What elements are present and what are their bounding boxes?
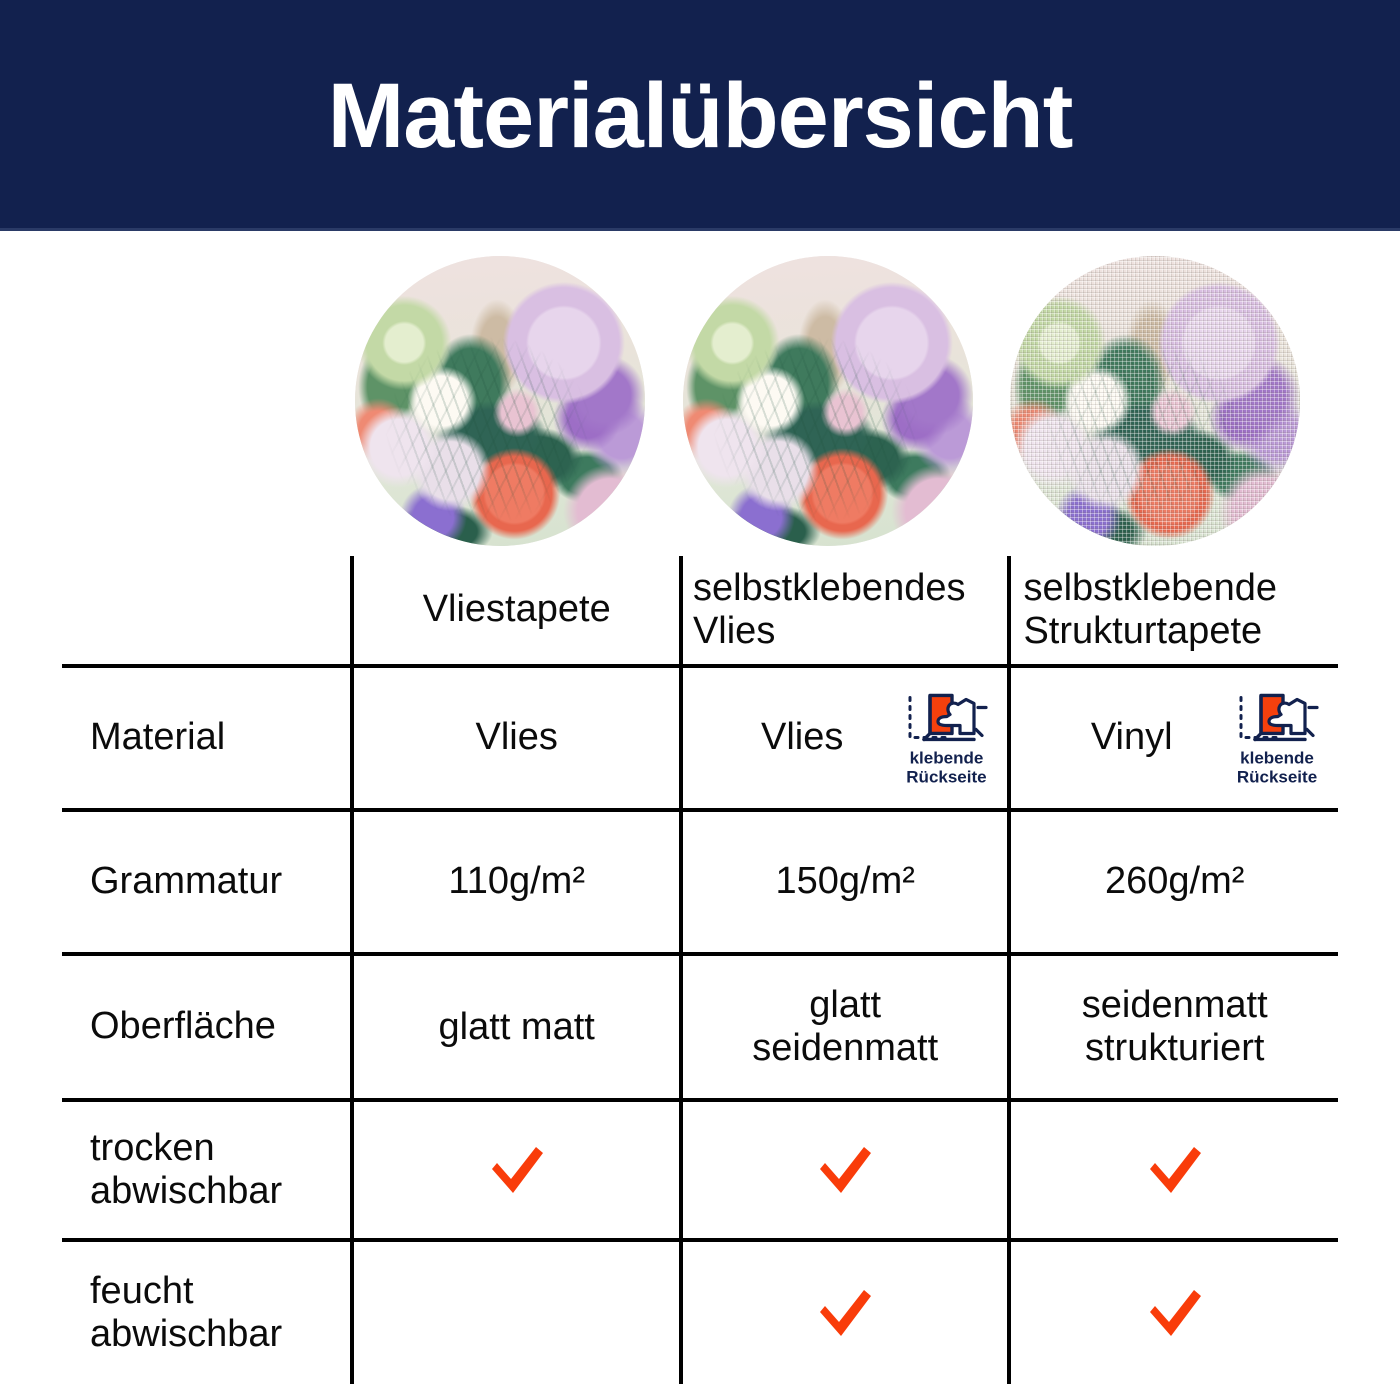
material-comparison-table-wrap: Vliestapete selbstklebendes Vlies selbst… [62,556,1338,1384]
row-label-text: Oberfläche [90,1005,276,1048]
row-label-line2: abwischbar [90,1170,282,1212]
cell-value: Vlies [476,716,558,759]
table-row: Material Vlies Vlies [62,666,1338,810]
peel-adhesive-backing-icon [900,689,992,745]
badge-text: klebende Rückseite [906,748,986,786]
cell-value: 110g/m² [448,860,585,903]
row-label-text: Grammatur [90,860,282,903]
row-label-text: Material [90,716,225,759]
cell-value: 260g/m² [1105,860,1244,903]
floral-pattern-image [355,256,645,546]
cell-value-line2: seidenmatt [752,1027,938,1069]
material-comparison-table: Vliestapete selbstklebendes Vlies selbst… [62,556,1338,1384]
header-line2: Strukturtapete [1023,610,1338,653]
klebende-rueckseite-badge: klebende Rückseite [891,689,1001,786]
cell-value-line1: seidenmatt [1082,984,1268,1026]
page-title: Materialübersicht [328,70,1073,162]
cell-material-selbstklebende-strukturtapete: Vinyl klebende Rü [1009,666,1338,810]
cell-feucht-selbstklebende-strukturtapete [1009,1240,1338,1384]
cell-grammatur-selbstklebende-strukturtapete: 260g/m² [1009,810,1338,954]
banner-underline [0,228,1400,231]
cell-grammatur-selbstklebendes-vlies: 150g/m² [681,810,1010,954]
checkmark-icon [1144,1141,1206,1199]
badge-line2: Rückseite [906,768,986,787]
peel-adhesive-backing-icon [1231,689,1323,745]
row-label-trocken-abwischbar: trocken abwischbar [62,1100,352,1240]
header-cell-blank [62,556,352,666]
checkmark-icon [814,1284,876,1342]
header-line1: selbstklebendes [693,567,1008,610]
header-cell-selbstklebendes-vlies: selbstklebendes Vlies [681,556,1010,666]
cell-grammatur-vliestapete: 110g/m² [352,810,681,954]
table-header-row: Vliestapete selbstklebendes Vlies selbst… [62,556,1338,666]
cell-value: Vlies [761,716,843,759]
row-label-line1: trocken [90,1127,215,1169]
row-label-line1: feucht [90,1270,194,1312]
cell-feucht-vliestapete [352,1240,681,1384]
badge-text: klebende Rückseite [1237,748,1317,786]
swatch-selbstklebende-strukturtapete[interactable] [1010,256,1300,546]
header-line1: selbstklebende [1023,567,1338,610]
header-cell-vliestapete: Vliestapete [352,556,681,666]
page-header-banner: Materialübersicht [0,0,1400,228]
swatch-vliestapete[interactable] [355,256,645,546]
cell-value-line1: glatt [809,984,881,1026]
cell-material-selbstklebendes-vlies: Vlies [681,666,1010,810]
woven-texture-overlay [1010,256,1300,546]
cell-feucht-selbstklebendes-vlies [681,1240,1010,1384]
badge-line1: klebende [910,748,984,767]
table-row: feucht abwischbar [62,1240,1338,1384]
cell-trocken-vliestapete [352,1100,681,1240]
header-line2: Vlies [693,610,1008,653]
checkmark-icon [814,1141,876,1199]
badge-line2: Rückseite [1237,768,1317,787]
row-label-line2: abwischbar [90,1313,282,1355]
cell-value-line1: glatt matt [439,1006,595,1048]
header-line1: Vliestapete [423,588,611,631]
checkmark-icon [1144,1284,1206,1342]
row-label-oberflaeche: Oberfläche [62,954,352,1100]
table-row: Grammatur 110g/m² 150g/m² 260g/m² [62,810,1338,954]
cell-material-vliestapete: Vlies [352,666,681,810]
row-label-grammatur: Grammatur [62,810,352,954]
cell-oberflaeche-selbstklebende-strukturtapete: seidenmatt strukturiert [1009,954,1338,1100]
header-cell-selbstklebende-strukturtapete: selbstklebende Strukturtapete [1009,556,1338,666]
klebende-rueckseite-badge: klebende Rückseite [1222,689,1332,786]
no-checkmark-placeholder [486,1284,548,1342]
cell-oberflaeche-vliestapete: glatt matt [352,954,681,1100]
cell-value: Vinyl [1091,716,1173,759]
floral-pattern-image [683,256,973,546]
row-label-material: Material [62,666,352,810]
cell-oberflaeche-selbstklebendes-vlies: glatt seidenmatt [681,954,1010,1100]
cell-trocken-selbstklebende-strukturtapete [1009,1100,1338,1240]
cell-value: 150g/m² [776,860,915,903]
cell-trocken-selbstklebendes-vlies [681,1100,1010,1240]
row-label-feucht-abwischbar: feucht abwischbar [62,1240,352,1384]
checkmark-icon [486,1141,548,1199]
material-swatch-row [0,256,1400,556]
table-row: trocken abwischbar [62,1100,1338,1240]
table-row: Oberfläche glatt matt glatt seidenmatt s… [62,954,1338,1100]
badge-line1: klebende [1240,748,1314,767]
swatch-selbstklebendes-vlies[interactable] [683,256,973,546]
cell-value-line2: strukturiert [1085,1027,1264,1069]
